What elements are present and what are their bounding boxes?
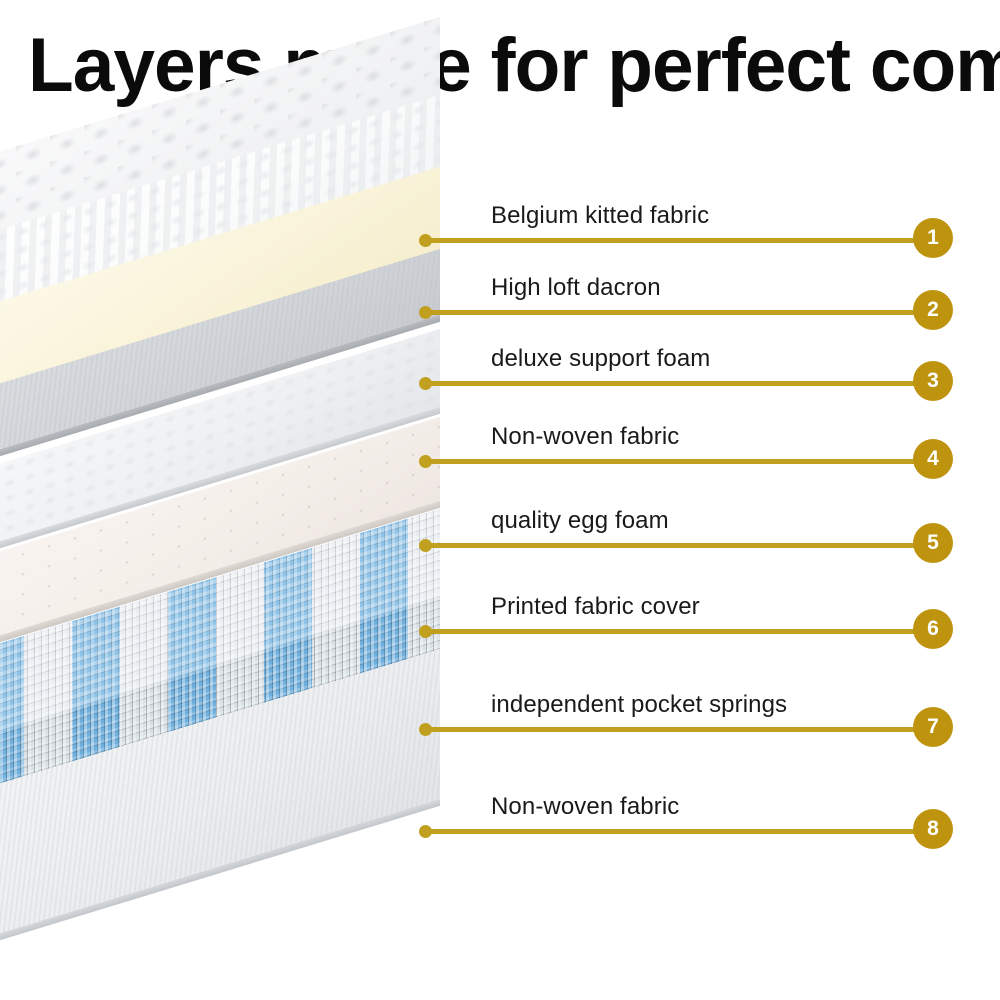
leader-line <box>424 629 924 634</box>
callout-badge[interactable]: 1 <box>913 218 953 258</box>
infographic-canvas: Layers make for perfect comfort 1 Belgiu… <box>0 0 1000 1000</box>
mattress-exploded-illustration <box>0 120 480 1000</box>
callout-label: independent pocket springs <box>491 691 787 719</box>
callout-badge[interactable]: 7 <box>913 707 953 747</box>
leader-line <box>424 829 924 834</box>
leader-line <box>424 543 924 548</box>
leader-line <box>424 381 924 386</box>
callout-label: deluxe support foam <box>491 345 710 373</box>
callout-label: quality egg foam <box>491 507 669 535</box>
leader-line <box>424 238 924 243</box>
callout-badge[interactable]: 2 <box>913 290 953 330</box>
callout-badge[interactable]: 4 <box>913 439 953 479</box>
callout-label: Non-woven fabric <box>491 423 679 451</box>
leader-line <box>424 459 924 464</box>
callout-label: High loft dacron <box>491 274 661 302</box>
leader-line <box>424 727 924 732</box>
callout-label: Non-woven fabric <box>491 793 679 821</box>
callout-badge[interactable]: 8 <box>913 809 953 849</box>
callout-label: Printed fabric cover <box>491 593 700 621</box>
leader-line <box>424 310 924 315</box>
callout-badge[interactable]: 6 <box>913 609 953 649</box>
callout-badge[interactable]: 5 <box>913 523 953 563</box>
callout-label: Belgium kitted fabric <box>491 202 709 230</box>
page-title: Layers make for perfect comfort <box>28 24 964 108</box>
callout-badge[interactable]: 3 <box>913 361 953 401</box>
